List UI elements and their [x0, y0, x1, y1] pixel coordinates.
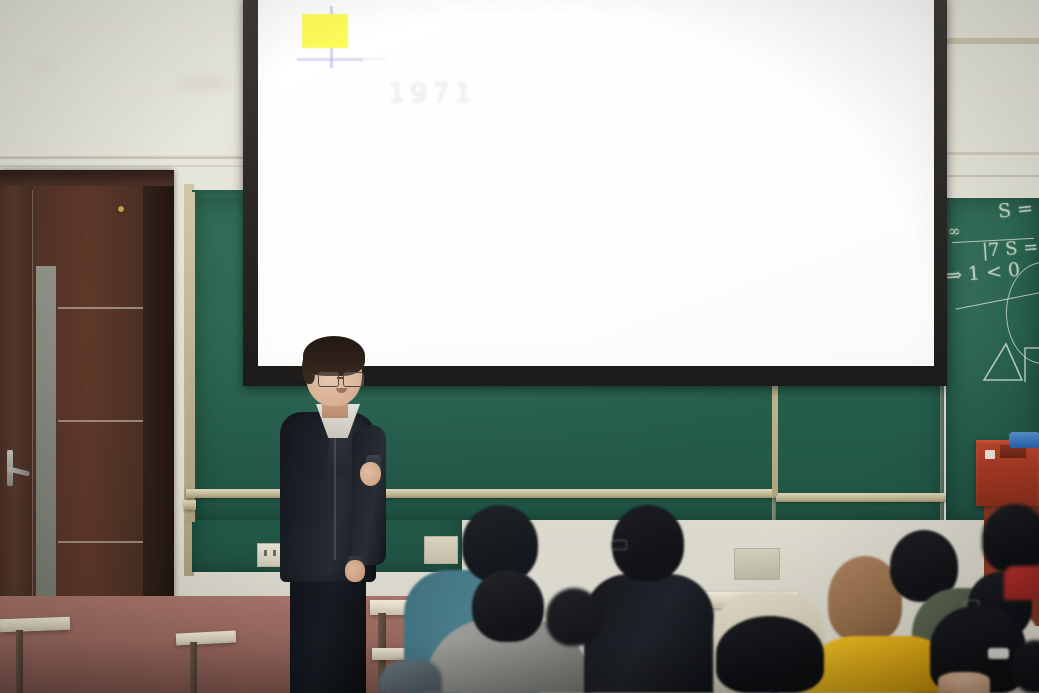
- lecturer-hand-upper: [360, 462, 381, 486]
- wall-panel: [424, 536, 458, 564]
- socket-slot: [273, 550, 276, 556]
- chalk-mark: [1022, 340, 1039, 384]
- lecturer-arm: [352, 425, 386, 565]
- wall-trim: [0, 165, 250, 167]
- student-glasses: [611, 540, 627, 550]
- student-face: [938, 672, 990, 693]
- door-trim-line: [58, 420, 143, 422]
- wall-trim: [0, 156, 250, 159]
- socket-slot: [264, 550, 267, 556]
- door-trim-line: [58, 307, 143, 309]
- student-red-collar: [1004, 566, 1039, 600]
- wall-smudge: [178, 78, 232, 88]
- lecturer-trousers: [290, 566, 366, 693]
- blackboard-ledge: [776, 493, 946, 502]
- lecturer-hand-lower: [345, 560, 365, 582]
- glasses-lens-left: [318, 372, 339, 387]
- door-latch-dot: [118, 206, 124, 212]
- student-head: [982, 504, 1039, 574]
- student-head: [472, 570, 544, 642]
- blackboard-frame-left-edge: [186, 192, 195, 522]
- lecturer-hair-side: [302, 352, 315, 384]
- wall-smudge: [34, 62, 60, 68]
- lecturer-jacket-zip: [334, 430, 336, 560]
- wall-trim: [940, 175, 1039, 177]
- hair-clip: [988, 648, 1009, 659]
- projection-screen: 1971: [258, 0, 934, 366]
- glasses-bridge: [337, 377, 344, 379]
- slide-year-label: 1971: [388, 78, 477, 109]
- wall-trim: [940, 152, 1039, 155]
- desk-leg: [190, 642, 197, 693]
- chalk-piece: [985, 450, 995, 459]
- door-frame-top: [0, 170, 174, 186]
- lecture-hall-photo: S = 1 ∞ |7 S = 2 ⇒ 1 < 0 1971: [0, 0, 1039, 693]
- wall-trim: [940, 38, 1039, 44]
- glasses-lens-right: [343, 372, 364, 387]
- student-head: [546, 588, 602, 646]
- student-body: [584, 574, 714, 693]
- blackboard-ledge: [186, 489, 776, 498]
- desk-leg: [16, 630, 23, 693]
- blue-cup: [1009, 432, 1039, 448]
- student-body: [378, 660, 442, 693]
- door-trim-line: [58, 541, 143, 543]
- desk: [0, 617, 70, 632]
- student-head: [716, 616, 824, 693]
- slide-axis-horizontal-faint: [338, 58, 386, 60]
- blackboard-ledge-corner: [184, 500, 196, 510]
- wall-panel: [734, 548, 780, 580]
- slide-yellow-block: [302, 14, 348, 48]
